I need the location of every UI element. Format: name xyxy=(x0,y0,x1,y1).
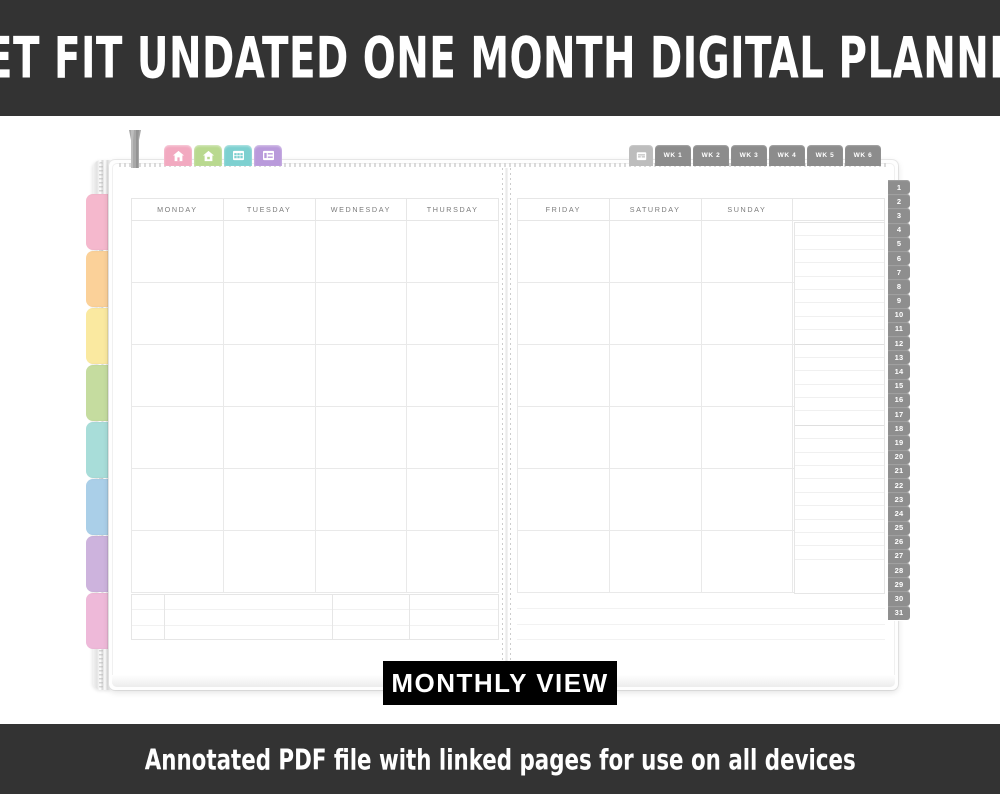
day-cell[interactable] xyxy=(132,283,224,345)
note-line xyxy=(795,263,884,276)
day-cell[interactable] xyxy=(223,407,315,469)
day-cell[interactable] xyxy=(609,469,701,531)
bottom-notes-strip-right[interactable] xyxy=(517,594,885,640)
tab-date-19[interactable]: 19 xyxy=(888,435,910,449)
note-line xyxy=(795,398,884,411)
tab-date-28[interactable]: 28 xyxy=(888,563,910,577)
note-line xyxy=(517,609,885,624)
tab-date-8[interactable]: 8 xyxy=(888,279,910,293)
note-line xyxy=(132,610,164,625)
note-line xyxy=(333,626,409,641)
calendar-grid-left: MONDAY TUESDAY WEDNESDAY THURSDAY xyxy=(131,198,499,593)
grid-icon xyxy=(232,150,245,161)
top-tab-strip[interactable] xyxy=(164,145,282,166)
day-cell[interactable] xyxy=(315,531,407,593)
center-binding xyxy=(501,168,512,680)
day-cell[interactable] xyxy=(518,407,610,469)
tab-date-25[interactable]: 25 xyxy=(888,521,910,535)
note-line xyxy=(165,610,332,625)
table-row xyxy=(132,345,499,407)
note-line xyxy=(795,371,884,384)
home-icon xyxy=(172,150,185,162)
day-header-saturday: SATURDAY xyxy=(609,199,701,221)
week-tab-strip[interactable]: WK 1 WK 2 WK 3 WK 4 WK 5 WK 6 xyxy=(629,145,881,166)
tab-date-13[interactable]: 13 xyxy=(888,350,910,364)
note-line xyxy=(795,479,884,492)
note-line xyxy=(795,411,884,424)
day-cell[interactable] xyxy=(315,283,407,345)
notes-section-3[interactable] xyxy=(795,426,884,573)
tab-month-overview[interactable] xyxy=(629,145,653,166)
note-line xyxy=(795,533,884,546)
note-line xyxy=(795,439,884,452)
note-line xyxy=(795,250,884,263)
day-cell[interactable] xyxy=(701,221,793,283)
tab-week-1[interactable]: WK 1 xyxy=(655,145,691,166)
note-line xyxy=(795,236,884,249)
day-cell[interactable] xyxy=(223,345,315,407)
left-page: MONDAY TUESDAY WEDNESDAY THURSDAY xyxy=(131,174,499,674)
tab-date-10[interactable]: 10 xyxy=(888,308,910,322)
day-cell[interactable] xyxy=(609,407,701,469)
tab-week-6[interactable]: WK 6 xyxy=(845,145,881,166)
day-cell[interactable] xyxy=(315,345,407,407)
day-header-tuesday: TUESDAY xyxy=(223,199,315,221)
bookmark-clip-icon xyxy=(125,130,145,168)
sidebar-item-yellow[interactable] xyxy=(86,308,110,364)
tab-week-2[interactable]: WK 2 xyxy=(693,145,729,166)
calendar-icon xyxy=(636,151,647,161)
day-cell[interactable] xyxy=(407,221,499,283)
note-line xyxy=(795,290,884,303)
tab-date-14[interactable]: 14 xyxy=(888,364,910,378)
day-cell[interactable] xyxy=(132,345,224,407)
day-cell[interactable] xyxy=(315,469,407,531)
house-icon xyxy=(202,150,215,162)
tab-date-22[interactable]: 22 xyxy=(888,478,910,492)
table-row xyxy=(132,283,499,345)
note-line xyxy=(517,625,885,640)
tab-date-27[interactable]: 27 xyxy=(888,549,910,563)
note-line xyxy=(795,303,884,316)
day-cell[interactable] xyxy=(132,407,224,469)
day-header-wednesday: WEDNESDAY xyxy=(315,199,407,221)
sidebar-item-green[interactable] xyxy=(86,365,110,421)
tab-date-18[interactable]: 18 xyxy=(888,421,910,435)
notes-header-blank xyxy=(793,199,885,221)
day-cell[interactable] xyxy=(609,283,701,345)
tab-week-3[interactable]: WK 3 xyxy=(731,145,767,166)
strip-cell[interactable] xyxy=(333,595,410,639)
table-row xyxy=(132,469,499,531)
note-line xyxy=(795,358,884,371)
sidebar-item-teal[interactable] xyxy=(86,422,110,478)
note-line xyxy=(333,610,409,625)
note-line xyxy=(795,466,884,479)
planner-product-image: GET FIT UNDATED ONE MONTH DIGITAL PLANNE… xyxy=(0,0,1000,794)
tab-date-9[interactable]: 9 xyxy=(888,294,910,308)
sidebar-item-blue[interactable] xyxy=(86,479,110,535)
day-cell[interactable] xyxy=(407,469,499,531)
note-line xyxy=(132,595,164,610)
day-cell[interactable] xyxy=(223,469,315,531)
table-row xyxy=(132,531,499,593)
day-cell[interactable] xyxy=(701,531,793,593)
note-line xyxy=(410,610,498,625)
tab-date-11[interactable]: 11 xyxy=(888,322,910,336)
day-cell[interactable] xyxy=(223,283,315,345)
day-cell[interactable] xyxy=(132,221,224,283)
day-cell[interactable] xyxy=(518,345,610,407)
day-cell[interactable] xyxy=(132,469,224,531)
day-cell[interactable] xyxy=(701,345,793,407)
side-tab-strip[interactable] xyxy=(86,194,110,650)
date-tab-strip[interactable]: 1234567891011121314151617181920212223242… xyxy=(888,180,910,620)
list-icon xyxy=(262,150,275,161)
view-badge-label: MONTHLY VIEW xyxy=(391,668,608,699)
note-line xyxy=(795,385,884,398)
sidebar-item-pink-1[interactable] xyxy=(86,194,110,250)
table-header-row: MONDAY TUESDAY WEDNESDAY THURSDAY xyxy=(132,199,499,221)
planner-spread: MONDAY TUESDAY WEDNESDAY THURSDAY xyxy=(109,160,898,690)
day-cell[interactable] xyxy=(518,221,610,283)
note-line xyxy=(795,453,884,466)
footer-banner: Annotated PDF file with linked pages for… xyxy=(0,724,1000,794)
note-line xyxy=(333,595,409,610)
right-page: FRIDAY SATURDAY SUNDAY xyxy=(517,174,885,674)
notes-section-2[interactable] xyxy=(795,345,884,426)
day-cell[interactable] xyxy=(132,531,224,593)
tab-grid[interactable] xyxy=(224,145,252,166)
note-line xyxy=(132,626,164,641)
tab-list[interactable] xyxy=(254,145,282,166)
note-line xyxy=(517,594,885,609)
note-line xyxy=(410,595,498,610)
note-line xyxy=(795,546,884,559)
strip-cell[interactable] xyxy=(165,595,333,639)
tab-week-4[interactable]: WK 4 xyxy=(769,145,805,166)
notes-section-1[interactable] xyxy=(795,223,884,345)
day-header-thursday: THURSDAY xyxy=(407,199,499,221)
day-cell[interactable] xyxy=(407,531,499,593)
day-cell[interactable] xyxy=(609,221,701,283)
tab-date-21[interactable]: 21 xyxy=(888,464,910,478)
day-header-sunday: SUNDAY xyxy=(701,199,793,221)
tab-date-1[interactable]: 1 xyxy=(888,180,910,194)
note-line xyxy=(165,595,332,610)
tab-date-2[interactable]: 2 xyxy=(888,194,910,208)
note-line xyxy=(795,277,884,290)
tab-home[interactable] xyxy=(164,145,192,166)
tab-house[interactable] xyxy=(194,145,222,166)
sidebar-item-pink-2[interactable] xyxy=(86,593,110,649)
tab-date-31[interactable]: 31 xyxy=(888,606,910,620)
note-line xyxy=(410,626,498,641)
tab-date-23[interactable]: 23 xyxy=(888,492,910,506)
tab-date-15[interactable]: 15 xyxy=(888,379,910,393)
day-cell[interactable] xyxy=(518,469,610,531)
tab-date-30[interactable]: 30 xyxy=(888,591,910,605)
day-cell[interactable] xyxy=(407,283,499,345)
day-cell[interactable] xyxy=(701,469,793,531)
day-cell[interactable] xyxy=(223,531,315,593)
tab-date-17[interactable]: 17 xyxy=(888,407,910,421)
day-cell[interactable] xyxy=(701,283,793,345)
product-stage: MONDAY TUESDAY WEDNESDAY THURSDAY xyxy=(0,116,1000,724)
tab-date-16[interactable]: 16 xyxy=(888,393,910,407)
day-header-monday: MONDAY xyxy=(132,199,224,221)
tab-date-26[interactable]: 26 xyxy=(888,535,910,549)
page-title: GET FIT UNDATED ONE MONTH DIGITAL PLANNE… xyxy=(0,24,1000,91)
table-row xyxy=(132,407,499,469)
tab-date-5[interactable]: 5 xyxy=(888,237,910,251)
note-line xyxy=(795,330,884,343)
tab-date-3[interactable]: 3 xyxy=(888,208,910,222)
note-line xyxy=(795,317,884,330)
planner-book: MONDAY TUESDAY WEDNESDAY THURSDAY xyxy=(93,160,898,690)
strip-cell[interactable] xyxy=(410,595,498,639)
day-cell[interactable] xyxy=(701,407,793,469)
note-line xyxy=(795,223,884,236)
status-badge: MONTHLY VIEW xyxy=(383,661,617,705)
tab-date-4[interactable]: 4 xyxy=(888,223,910,237)
note-line xyxy=(165,626,332,641)
tab-date-29[interactable]: 29 xyxy=(888,577,910,591)
header-banner: GET FIT UNDATED ONE MONTH DIGITAL PLANNE… xyxy=(0,0,1000,116)
binding-gutter xyxy=(505,168,508,680)
day-cell[interactable] xyxy=(609,345,701,407)
sidebar-item-purple[interactable] xyxy=(86,536,110,592)
day-cell[interactable] xyxy=(518,283,610,345)
tab-date-7[interactable]: 7 xyxy=(888,265,910,279)
note-line xyxy=(795,345,884,358)
note-line xyxy=(795,520,884,533)
note-line xyxy=(795,560,884,573)
tab-date-12[interactable]: 12 xyxy=(888,336,910,350)
note-line xyxy=(795,493,884,506)
tab-date-20[interactable]: 20 xyxy=(888,450,910,464)
notes-panel[interactable] xyxy=(794,222,885,594)
day-cell[interactable] xyxy=(315,221,407,283)
day-cell[interactable] xyxy=(609,531,701,593)
table-header-row: FRIDAY SATURDAY SUNDAY xyxy=(518,199,885,221)
bottom-notes-strip-left[interactable] xyxy=(131,594,499,640)
day-cell[interactable] xyxy=(407,345,499,407)
day-cell[interactable] xyxy=(315,407,407,469)
calendar-body-left xyxy=(132,221,499,593)
day-header-friday: FRIDAY xyxy=(518,199,610,221)
day-cell[interactable] xyxy=(407,407,499,469)
tab-date-24[interactable]: 24 xyxy=(888,506,910,520)
note-line xyxy=(795,426,884,439)
note-line xyxy=(795,506,884,519)
tab-week-5[interactable]: WK 5 xyxy=(807,145,843,166)
tab-date-6[interactable]: 6 xyxy=(888,251,910,265)
day-cell[interactable] xyxy=(518,531,610,593)
day-cell[interactable] xyxy=(223,221,315,283)
footer-caption: Annotated PDF file with linked pages for… xyxy=(144,742,855,775)
sidebar-item-orange[interactable] xyxy=(86,251,110,307)
table-row xyxy=(132,221,499,283)
strip-cell[interactable] xyxy=(132,595,165,639)
